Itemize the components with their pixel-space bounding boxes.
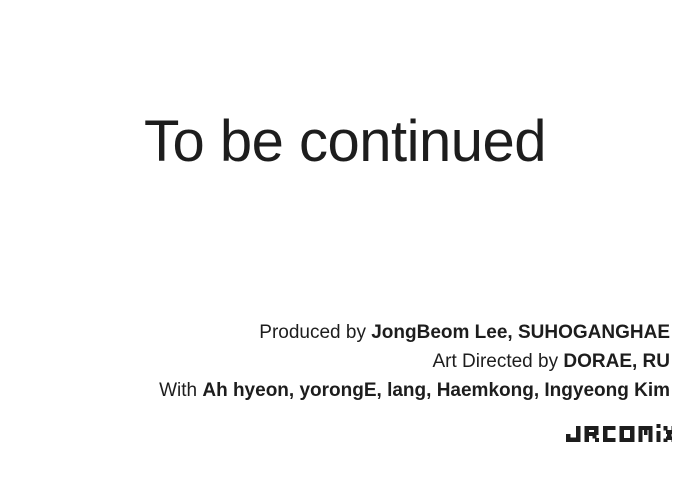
credit-names: Ah hyeon, yorongE, lang, Haemkong, Ingye… xyxy=(202,380,670,401)
credit-role-label: Art Directed by xyxy=(432,351,563,372)
end-card-page: To be continued Produced by JongBeom Lee… xyxy=(0,0,690,504)
credit-line: Art Directed by DORAE, RU xyxy=(20,347,670,376)
publisher-logo: JRCOMiX xyxy=(566,424,672,446)
credit-names: JongBeom Lee, SUHOGANGHAE xyxy=(371,322,670,343)
credit-line: Produced by JongBeom Lee, SUHOGANGHAE xyxy=(20,318,670,347)
jrcomix-logo-icon xyxy=(566,424,672,446)
credit-names: DORAE, RU xyxy=(563,351,670,372)
credit-line: With Ah hyeon, yorongE, lang, Haemkong, … xyxy=(20,376,670,405)
credits-block: Produced by JongBeom Lee, SUHOGANGHAE Ar… xyxy=(20,318,670,405)
credit-role-label: Produced by xyxy=(259,322,371,343)
credit-role-label: With xyxy=(159,380,202,401)
title-block: To be continued xyxy=(0,112,690,173)
page-title: To be continued xyxy=(0,112,690,173)
